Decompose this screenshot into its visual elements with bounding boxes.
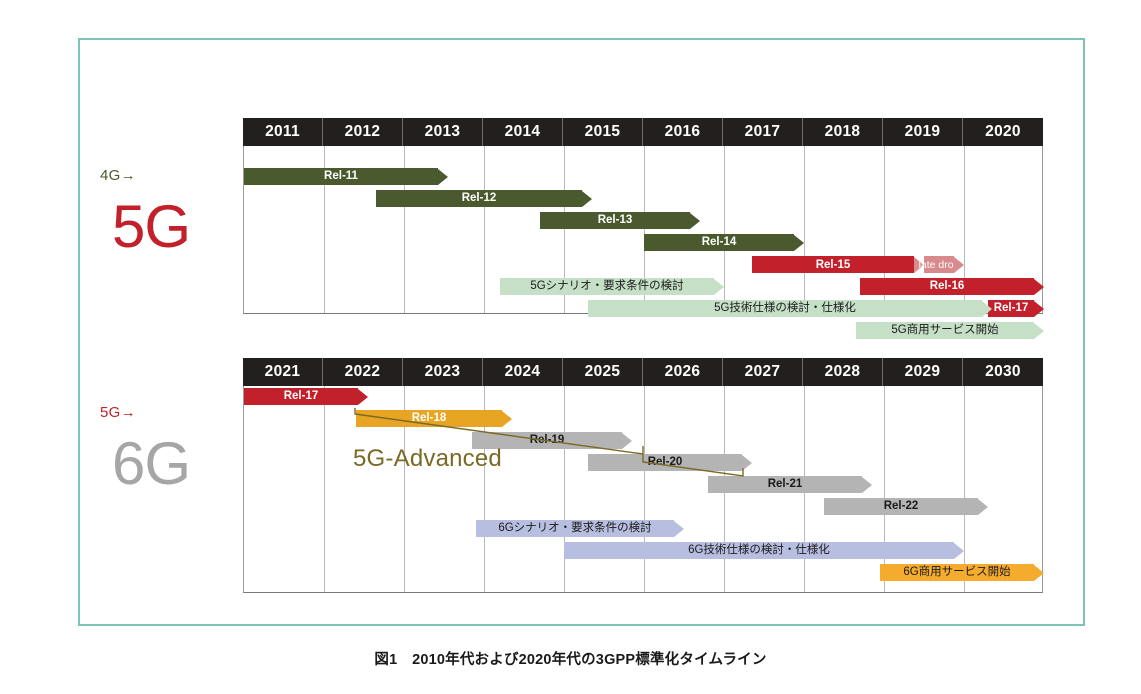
arrow-head-icon (502, 411, 512, 427)
year-cell-2017: 2017 (723, 118, 803, 146)
timeline-2010s-chart-area: Rel-11Rel-12Rel-13Rel-14Rel-15late dropR… (243, 146, 1043, 314)
timeline-bar: Rel-15late drop (752, 256, 964, 273)
timeline-bar: Rel-11 (244, 168, 448, 185)
year-cell-2014: 2014 (483, 118, 563, 146)
timeline-bar: 5G技術仕様の検討・仕様化 (588, 300, 992, 317)
generation-from-label-5g: 5G→ (100, 405, 190, 420)
arrow-head-icon (978, 499, 988, 515)
timeline-bar-body: 6Gシナリオ・要求条件の検討 (476, 520, 674, 537)
arrow-head-icon (1034, 279, 1044, 295)
timeline-2010s-year-header: 2011201220132014201520162017201820192020 (243, 118, 1043, 146)
gridline (644, 386, 645, 592)
gridline (964, 386, 965, 592)
timeline-bar-body: Rel-16 (860, 278, 1034, 295)
timeline-bar-body: Rel-14 (644, 234, 794, 251)
year-cell-2012: 2012 (323, 118, 403, 146)
gridline (724, 146, 725, 313)
year-cell-2011: 2011 (243, 118, 323, 146)
generation-label-group-4g-5g: 4G→ 5G (100, 168, 190, 257)
year-cell-2024: 2024 (483, 358, 563, 386)
timeline-bar-label: Rel-19 (526, 435, 569, 447)
timeline-bar-label: Rel-20 (644, 457, 687, 469)
timeline-bar: Rel-17 (988, 300, 1044, 317)
year-cell-2026: 2026 (643, 358, 723, 386)
timeline-bar-label: 5G技術仕様の検討・仕様化 (710, 303, 860, 315)
arrow-head-icon (982, 301, 992, 317)
arrow-head-icon (358, 389, 368, 405)
gridline (884, 386, 885, 592)
timeline-bar-body: Rel-17 (244, 388, 358, 405)
timeline-bar: 5G商用サービス開始 (856, 322, 1044, 339)
timeline-2020s-chart-area: Rel-17Rel-18Rel-19Rel-20Rel-21Rel-226Gシナ… (243, 386, 1043, 593)
timeline-bar-label: Rel-18 (408, 413, 451, 425)
arrow-head-icon (794, 235, 804, 251)
year-cell-2021: 2021 (243, 358, 323, 386)
arrow-head-icon (582, 191, 592, 207)
timeline-bar-body: 5Gシナリオ・要求条件の検討 (500, 278, 714, 295)
arrow-head-icon (622, 433, 632, 449)
timeline-bar-label: Rel-22 (880, 501, 923, 513)
timeline-bar-label: Rel-15 (752, 256, 914, 273)
timeline-2020s: 2021202220232024202520262027202820292030… (243, 358, 1043, 593)
timeline-bar-label: Rel-11 (320, 171, 362, 183)
gridline (324, 386, 325, 592)
timeline-bar-body: Rel-12 (376, 190, 582, 207)
timeline-bar-label: Rel-13 (594, 215, 637, 227)
year-cell-2025: 2025 (563, 358, 643, 386)
timeline-bar: 6Gシナリオ・要求条件の検討 (476, 520, 684, 537)
generation-to-label-6g: 6G (112, 434, 190, 494)
timeline-bar: 5Gシナリオ・要求条件の検討 (500, 278, 724, 295)
arrow-head-icon (690, 213, 700, 229)
timeline-bar-label: Rel-16 (926, 281, 969, 293)
timeline-bar-body: 6G商用サービス開始 (880, 564, 1034, 581)
year-cell-2013: 2013 (403, 118, 483, 146)
arrow-head-icon (742, 455, 752, 471)
gridline (564, 386, 565, 592)
year-cell-2015: 2015 (563, 118, 643, 146)
generation-label-group-5g-6g: 5G→ 6G (100, 405, 190, 494)
year-cell-2027: 2027 (723, 358, 803, 386)
year-cell-2016: 2016 (643, 118, 723, 146)
timeline-bar-label: Rel-17 (990, 303, 1033, 315)
arrow-head-icon (674, 521, 684, 537)
year-cell-2020: 2020 (963, 118, 1043, 146)
timeline-bar: 6G技術仕様の検討・仕様化 (564, 542, 964, 559)
arrow-head-icon (438, 169, 448, 185)
timeline-bar: Rel-21 (708, 476, 872, 493)
timeline-bar-body: Rel-20 (588, 454, 742, 471)
timeline-bar-body: Rel-13 (540, 212, 690, 229)
timeline-bar: Rel-22 (824, 498, 988, 515)
gridline (484, 146, 485, 313)
arrow-head-icon (1034, 301, 1044, 317)
generation-to-label-5g: 5G (112, 197, 190, 257)
timeline-bar-label: 6G技術仕様の検討・仕様化 (684, 545, 834, 557)
arrow-head-icon (954, 543, 964, 559)
timeline-bar-body: 5G商用サービス開始 (856, 322, 1034, 339)
year-cell-2028: 2028 (803, 358, 883, 386)
timeline-bar: Rel-17 (244, 388, 368, 405)
timeline-bar-label: 6Gシナリオ・要求条件の検討 (494, 523, 655, 535)
timeline-bar: Rel-13 (540, 212, 700, 229)
timeline-bar-label: 6G商用サービス開始 (899, 567, 1014, 579)
timeline-bar-label: 5G商用サービス開始 (887, 325, 1002, 337)
arrow-head-icon (1034, 565, 1044, 581)
timeline-bar: Rel-12 (376, 190, 592, 207)
timeline-bar-label: Rel-21 (764, 479, 807, 491)
timeline-bar: Rel-14 (644, 234, 804, 251)
timeline-2010s: 2011201220132014201520162017201820192020… (243, 118, 1043, 314)
five-g-advanced-label: 5G-Advanced (353, 445, 502, 473)
timeline-bar-label: Rel-14 (698, 237, 741, 249)
year-cell-2018: 2018 (803, 118, 883, 146)
timeline-bar-body: Rel-18 (356, 410, 502, 427)
arrow-head-icon (862, 477, 872, 493)
arrow-head-icon (714, 279, 724, 295)
timeline-bar: Rel-20 (588, 454, 752, 471)
generation-from-label-4g: 4G→ (100, 168, 190, 183)
timeline-bar-label: 5Gシナリオ・要求条件の検討 (526, 281, 687, 293)
arrow-head-icon (1034, 323, 1044, 339)
timeline-bar-body: Rel-17 (988, 300, 1034, 317)
year-cell-2030: 2030 (963, 358, 1043, 386)
year-cell-2019: 2019 (883, 118, 963, 146)
year-cell-2022: 2022 (323, 358, 403, 386)
timeline-bar-body: 5G技術仕様の検討・仕様化 (588, 300, 982, 317)
figure-caption: 図1 2010年代および2020年代の3GPP標準化タイムライン (0, 648, 1141, 669)
timeline-bar: Rel-18 (356, 410, 512, 427)
timeline-bar-body: Rel-22 (824, 498, 978, 515)
gridline (804, 146, 805, 313)
timeline-bar-sublabel: late drop (924, 256, 954, 273)
timeline-2020s-year-header: 2021202220232024202520262027202820292030 (243, 358, 1043, 386)
year-cell-2029: 2029 (883, 358, 963, 386)
arrow-head-icon (954, 257, 964, 273)
timeline-bar-label: Rel-17 (280, 391, 323, 403)
timeline-bar: 6G商用サービス開始 (880, 564, 1044, 581)
timeline-bar-body: 6G技術仕様の検討・仕様化 (564, 542, 954, 559)
timeline-bar-body: Rel-11 (244, 168, 438, 185)
year-cell-2023: 2023 (403, 358, 483, 386)
timeline-bar-body: Rel-21 (708, 476, 862, 493)
timeline-bar: Rel-16 (860, 278, 1044, 295)
timeline-bar-label: Rel-12 (458, 193, 501, 205)
